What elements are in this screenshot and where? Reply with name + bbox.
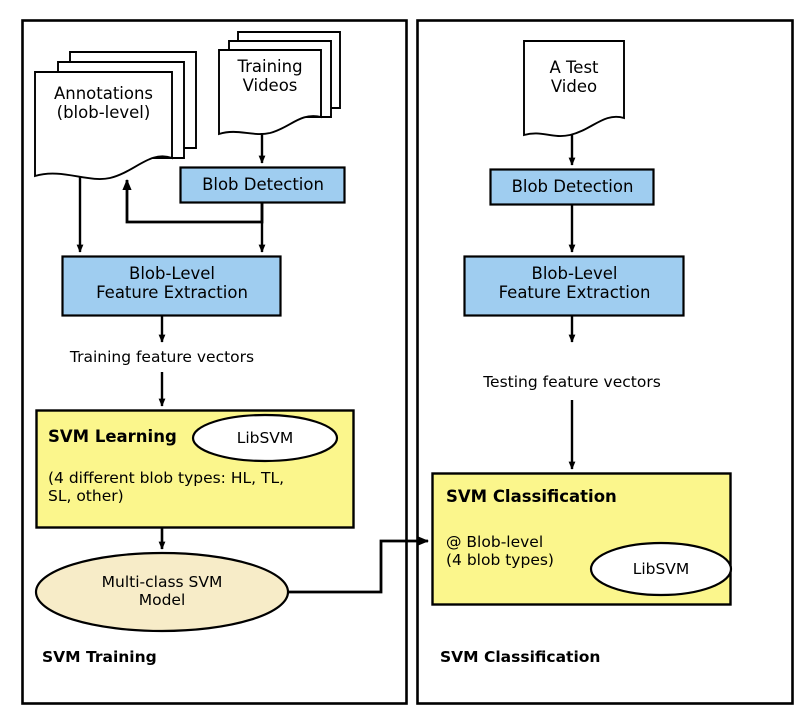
blob-detection-box-training	[181, 168, 345, 203]
training-videos-document-stack	[219, 32, 340, 134]
diagram-graphics	[0, 0, 804, 713]
libsvm-badge-classification	[591, 543, 731, 595]
blob-detection-box-classification	[491, 170, 654, 205]
libsvm-badge-training	[193, 415, 337, 461]
annotations-document-stack	[35, 52, 196, 179]
multiclass-svm-model-ellipse	[36, 553, 288, 631]
test-video-document	[524, 41, 624, 136]
feature-extraction-box-classification	[465, 257, 684, 316]
diagram-canvas: Annotations (blob-level) Training Videos…	[0, 0, 804, 713]
panel-caption-training: SVM Training	[42, 648, 157, 666]
panel-caption-classification: SVM Classification	[440, 648, 600, 666]
feature-extraction-box-training	[63, 257, 281, 316]
